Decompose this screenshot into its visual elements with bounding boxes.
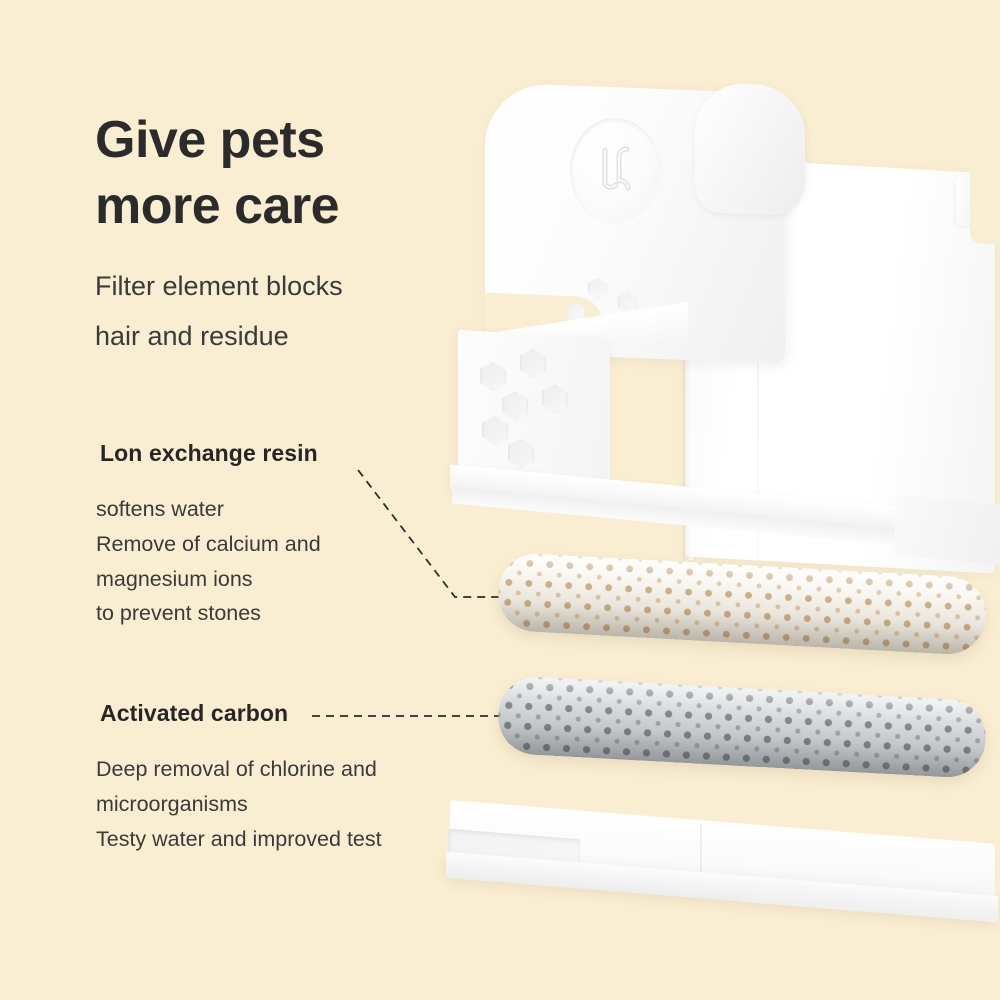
filter-housing-top [440, 70, 1000, 580]
callout-title-carbon: Activated carbon [100, 700, 288, 727]
callout-body-carbon: Deep removal of chlorine and microorgani… [96, 752, 382, 856]
hex-vent [482, 415, 508, 446]
housing-hook-cap [695, 82, 805, 216]
housing-top-notch [970, 165, 1000, 245]
hex-vent [480, 361, 506, 392]
filter-base-tray [440, 800, 1000, 940]
hex-vent [542, 384, 568, 415]
hex-vent [520, 348, 546, 379]
housing-lip-right [895, 495, 1000, 565]
callout-title-resin: Lon exchange resin [100, 440, 318, 467]
activated-carbon-cartridge [496, 675, 988, 779]
page-subhead: Filter element blocks hair and residue [95, 262, 343, 361]
hex-vent [508, 438, 534, 469]
hex-vent [502, 391, 528, 422]
page-headline: Give pets more care [95, 108, 339, 239]
product-infographic: Give pets more care Filter element block… [0, 0, 1000, 1000]
carbon-shading [496, 675, 988, 779]
callout-body-resin: softens water Remove of calcium and magn… [96, 492, 321, 631]
